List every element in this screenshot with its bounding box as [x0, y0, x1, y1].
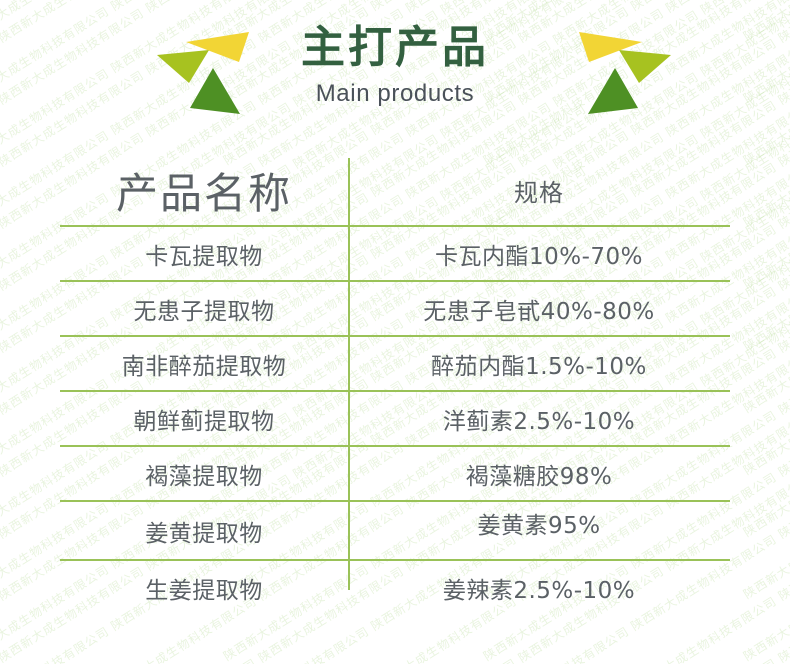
column-divider	[348, 158, 350, 590]
cell-product-name: 褐藻提取物	[60, 446, 348, 501]
table-row: 生姜提取物姜辣素2.5%-10%	[60, 560, 730, 614]
cell-product-name: 生姜提取物	[60, 560, 348, 614]
column-header-specification: 规格	[348, 155, 730, 226]
cell-product-name: 南非醉茄提取物	[60, 336, 348, 391]
table-row: 姜黄提取物姜黄素95%	[60, 501, 730, 560]
table-body: 卡瓦提取物卡瓦内酯10%-70%无患子提取物无患子皂甙40%-80%南非醉茄提取…	[60, 226, 730, 614]
cell-product-name: 无患子提取物	[60, 281, 348, 336]
page-header: 主打产品 Main products	[0, 0, 790, 150]
table-row: 无患子提取物无患子皂甙40%-80%	[60, 281, 730, 336]
watermark-text: 陕西新大成生物科技有限公司 陕西新大成生物科技有限公司 陕西新大成生物科技有限公…	[740, 224, 790, 664]
table-row: 褐藻提取物褐藻糖胶98%	[60, 446, 730, 501]
product-table-page: 陕西新大成生物科技有限公司 陕西新大成生物科技有限公司 陕西新大成生物科技有限公…	[0, 0, 790, 664]
table-row: 卡瓦提取物卡瓦内酯10%-70%	[60, 226, 730, 281]
product-table-wrapper: 产品名称 规格 卡瓦提取物卡瓦内酯10%-70%无患子提取物无患子皂甙40%-8…	[60, 155, 730, 614]
watermark-text: 陕西新大成生物科技有限公司 陕西新大成生物科技有限公司 陕西新大成生物科技有限公…	[740, 100, 790, 664]
cell-specification: 卡瓦内酯10%-70%	[348, 226, 730, 281]
cell-specification: 姜黄素95%	[348, 501, 730, 560]
cell-specification: 洋蓟素2.5%-10%	[348, 391, 730, 446]
cell-product-name: 朝鲜蓟提取物	[60, 391, 348, 446]
cell-specification: 褐藻糖胶98%	[348, 446, 730, 501]
table-row: 南非醉茄提取物醉茄内酯1.5%-10%	[60, 336, 730, 391]
product-table: 产品名称 规格 卡瓦提取物卡瓦内酯10%-70%无患子提取物无患子皂甙40%-8…	[60, 155, 730, 614]
column-header-product-name: 产品名称	[60, 155, 348, 226]
table-row: 朝鲜蓟提取物洋蓟素2.5%-10%	[60, 391, 730, 446]
cell-product-name: 卡瓦提取物	[60, 226, 348, 281]
watermark-text: 陕西新大成生物科技有限公司 陕西新大成生物科技有限公司 陕西新大成生物科技有限公…	[740, 162, 790, 664]
watermark-text: 陕西新大成生物科技有限公司 陕西新大成生物科技有限公司 陕西新大成生物科技有限公…	[740, 286, 790, 664]
table-header-row: 产品名称 规格	[60, 155, 730, 226]
cell-specification: 无患子皂甙40%-80%	[348, 281, 730, 336]
cell-product-name: 姜黄提取物	[60, 501, 348, 560]
cell-specification: 醉茄内酯1.5%-10%	[348, 336, 730, 391]
cell-specification: 姜辣素2.5%-10%	[348, 560, 730, 614]
triangle-burst-right-icon	[556, 14, 676, 129]
